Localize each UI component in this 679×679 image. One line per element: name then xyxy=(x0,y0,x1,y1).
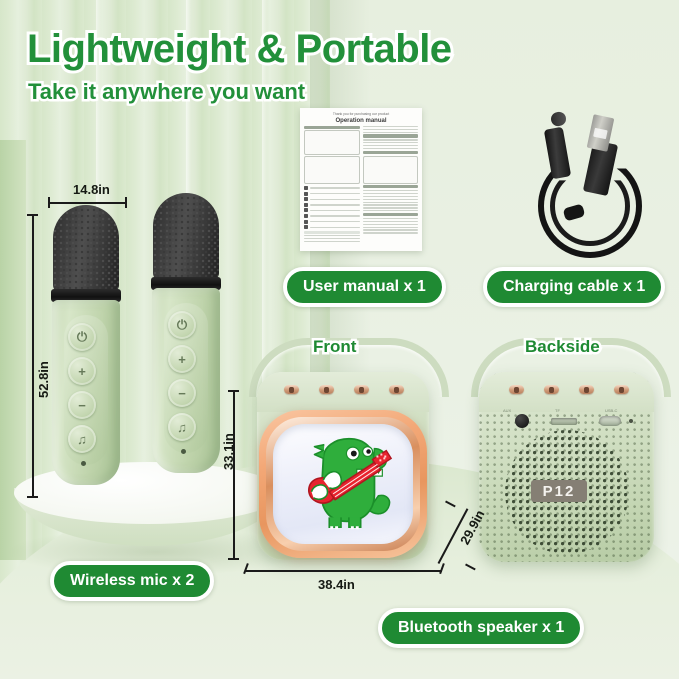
charging-cable xyxy=(520,110,670,250)
dimension-tick xyxy=(27,214,38,216)
mic1-volume-up-button[interactable]: + xyxy=(68,357,96,385)
speaker-top-knob-4[interactable] xyxy=(389,385,404,394)
mic1-music-echo-button[interactable]: ♫ xyxy=(68,425,96,453)
infographic-canvas: Lightweight & Portable Take it anywhere … xyxy=(0,0,679,679)
dimension-mic-height-text: 52.8in xyxy=(36,361,51,398)
wireless-microphone-2: ⏻ + − ♫ xyxy=(148,193,224,490)
dimension-mic-width-text: 14.8in xyxy=(73,182,110,197)
label-front-view: Front xyxy=(313,337,356,357)
manual-header-text: Thank you for purchasing our product xyxy=(304,112,418,117)
usb-port-label: USB-C xyxy=(605,408,617,413)
speaker-body-front xyxy=(257,372,429,560)
wireless-microphone-1: ⏻ + − ♫ xyxy=(48,205,124,490)
dimension-tick xyxy=(228,390,239,392)
manual-list-row xyxy=(304,225,360,229)
page-subtitle: Take it anywhere you want xyxy=(28,79,305,105)
usb-c-connector-tip xyxy=(550,111,567,127)
dimension-mic-width-line xyxy=(48,202,126,204)
mic-grille-head xyxy=(53,205,119,293)
manual-diagram xyxy=(304,130,360,155)
aux-port-label: AUX xyxy=(503,408,511,413)
speaker-back-knob-4[interactable] xyxy=(614,385,629,394)
dimension-tick xyxy=(48,197,50,208)
speaker-back-view: AUX TF USB-C P12 xyxy=(463,338,668,560)
mic1-indicator-led xyxy=(81,461,86,466)
speaker-bezel-ring xyxy=(266,417,420,551)
dimension-mic-height-line xyxy=(32,214,34,497)
speaker-front-panel-screen xyxy=(273,424,413,544)
mic2-music-echo-button[interactable]: ♫ xyxy=(168,413,196,441)
manual-list-row xyxy=(304,214,360,218)
page-title: Lightweight & Portable xyxy=(27,27,452,72)
speaker-back-knob-3[interactable] xyxy=(579,385,594,394)
aux-jack-port[interactable] xyxy=(515,414,529,428)
dimension-tick xyxy=(125,197,127,208)
dimension-speaker-height-line xyxy=(233,390,235,559)
mic2-power-button[interactable]: ⏻ xyxy=(168,311,196,339)
dimension-tick xyxy=(228,558,239,560)
speaker-top-knob-1[interactable] xyxy=(284,385,299,394)
tf-port-label: TF xyxy=(555,408,560,413)
dimension-speaker-width-text: 38.4in xyxy=(318,577,355,592)
label-backside-view: Backside xyxy=(525,337,600,357)
user-manual-sheet: Thank you for purchasing our product Ope… xyxy=(300,108,422,251)
manual-diagram xyxy=(363,156,419,184)
label-user-manual: User manual x 1 xyxy=(283,267,446,307)
manual-list-row xyxy=(304,186,360,190)
speaker-body-back: AUX TF USB-C P12 xyxy=(479,372,654,562)
dimension-speaker-width-line xyxy=(245,570,442,572)
manual-column-right xyxy=(363,126,419,242)
mic2-volume-down-button[interactable]: − xyxy=(168,379,196,407)
usb-c-port[interactable] xyxy=(599,416,621,426)
speaker-top-knob-3[interactable] xyxy=(354,385,369,394)
manual-section-bar xyxy=(363,185,419,188)
mic-grille-head xyxy=(153,193,219,281)
mic2-volume-up-button[interactable]: + xyxy=(168,345,196,373)
label-charging-cable: Charging cable x 1 xyxy=(483,267,665,307)
dinosaur-guitar-icon xyxy=(284,425,402,543)
manual-list-row xyxy=(304,220,360,224)
speaker-front-view xyxy=(243,338,443,560)
usb-c-connector-body xyxy=(544,127,571,180)
mic1-power-button[interactable]: ⏻ xyxy=(68,323,96,351)
manual-title-text: Operation manual xyxy=(304,118,418,124)
manual-list-row xyxy=(304,197,360,201)
speaker-front-bezel xyxy=(259,410,427,558)
manual-section-bar xyxy=(304,231,360,234)
manual-diagram xyxy=(304,156,360,184)
manual-section-bar xyxy=(363,134,419,137)
manual-list-row xyxy=(304,192,360,196)
manual-section-bar xyxy=(304,126,360,129)
speaker-back-knob-2[interactable] xyxy=(544,385,559,394)
manual-section-bar xyxy=(363,213,419,216)
speaker-top-knob-2[interactable] xyxy=(319,385,334,394)
manual-columns xyxy=(304,126,418,242)
dimension-tick xyxy=(27,496,38,498)
label-wireless-mic: Wireless mic x 2 xyxy=(50,561,214,601)
mic1-volume-down-button[interactable]: − xyxy=(68,391,96,419)
manual-section-bar xyxy=(363,151,419,154)
manual-list-row xyxy=(304,208,360,212)
label-bluetooth-speaker: Bluetooth speaker x 1 xyxy=(378,608,584,648)
indicator-led xyxy=(629,419,633,423)
manual-column-left xyxy=(304,126,360,242)
manual-list-row xyxy=(304,203,360,207)
tf-card-slot[interactable] xyxy=(551,418,577,425)
speaker-back-knob-1[interactable] xyxy=(509,385,524,394)
mic2-indicator-led xyxy=(181,449,186,454)
speaker-model-badge: P12 xyxy=(531,480,587,502)
